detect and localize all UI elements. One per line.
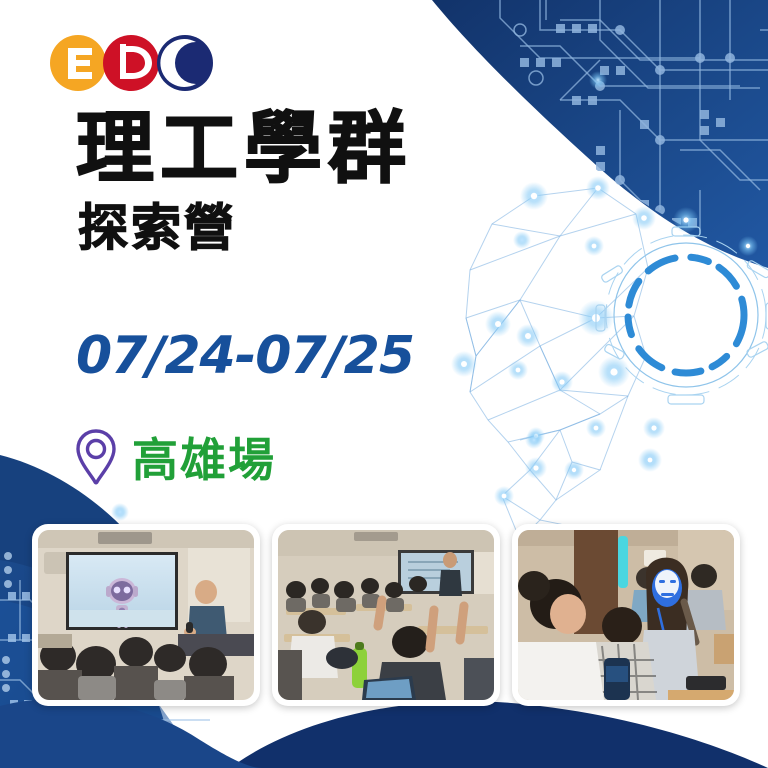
photo-card-led-mask[interactable] bbox=[512, 524, 740, 706]
edc-logo[interactable] bbox=[48, 32, 216, 94]
logo-circle-c bbox=[157, 35, 213, 91]
photo-strip bbox=[0, 524, 768, 710]
logo-circle-d bbox=[103, 35, 159, 91]
photo-led-mask bbox=[518, 530, 734, 700]
page-title: 理工學群 bbox=[76, 108, 516, 191]
location-pin-icon bbox=[74, 428, 118, 486]
venue-label: 高雄場 bbox=[132, 424, 276, 490]
event-date: 07/24-07/25 bbox=[76, 326, 414, 386]
page-subtitle: 探索營 bbox=[78, 201, 516, 256]
photo-card-lecture-robot[interactable] bbox=[32, 524, 260, 706]
headline-block: 理工學群 探索營 bbox=[76, 108, 516, 256]
photo-card-classroom-hands-up[interactable] bbox=[272, 524, 500, 706]
logo-circle-e bbox=[50, 35, 106, 91]
photo-lecture-robot bbox=[38, 530, 254, 700]
poster-canvas: 理工學群 探索營 07/24-07/25 高雄場 bbox=[0, 0, 768, 768]
photo-classroom-hands-up bbox=[278, 530, 494, 700]
venue-row: 高雄場 bbox=[74, 424, 276, 490]
